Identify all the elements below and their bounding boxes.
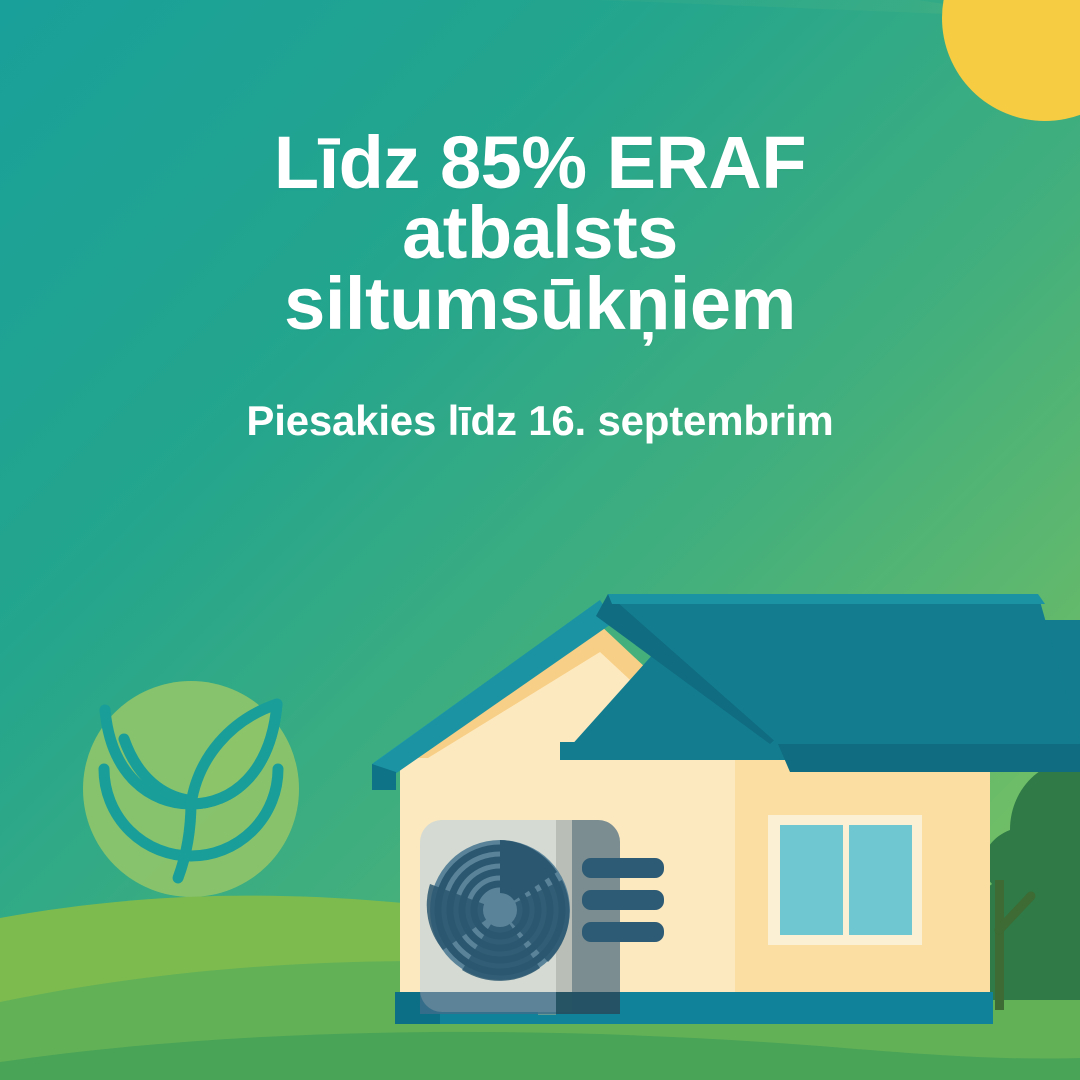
- house-window: [768, 815, 922, 945]
- house-illustration: [0, 0, 1080, 1080]
- roof-ridge-highlight: [608, 594, 1045, 604]
- roof-main-eave: [778, 744, 1080, 772]
- promotional-poster: Līdz 85% ERAF atbalsts siltumsūkņiem Pie…: [0, 0, 1080, 1080]
- heat-pump-vents: [582, 858, 664, 942]
